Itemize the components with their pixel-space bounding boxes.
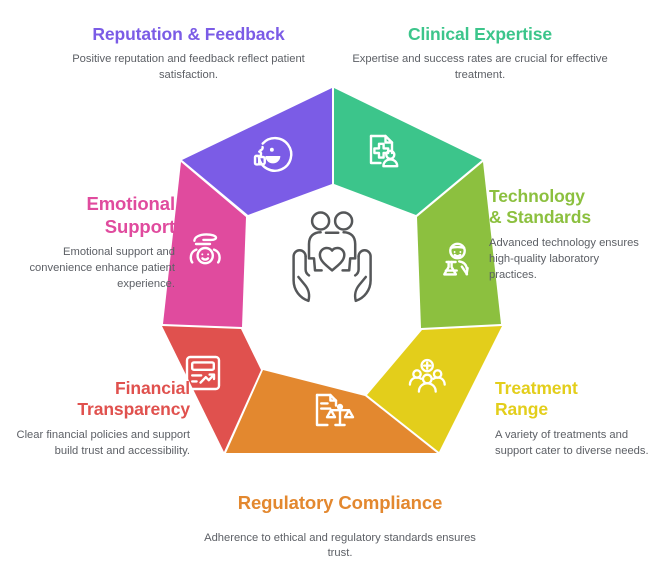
caption-financial-title: Financial Transparency — [10, 378, 190, 421]
caption-technology-title-line2: & Standards — [489, 207, 591, 227]
caption-technology-title-line1: Technology — [489, 186, 585, 206]
caption-regulatory-description: Adherence to ethical and regulatory stan… — [204, 531, 476, 563]
caption-treatment-title-line1: Treatment — [495, 378, 578, 398]
caption-treatment-title: Treatment Range — [495, 378, 655, 421]
caption-regulatory: Regulatory Compliance Adherence to ethic… — [204, 492, 476, 562]
caption-treatment-title-line2: Range — [495, 399, 548, 419]
caption-emotional-title-line1: Emotional — [86, 193, 175, 214]
caption-emotional-description: Emotional support and convenience enhanc… — [10, 245, 175, 293]
caption-clinical: Clinical Expertise Expertise and success… — [340, 24, 620, 84]
caption-treatment: Treatment Range A variety of treatments … — [495, 378, 655, 460]
caption-reputation-description: Positive reputation and feedback reflect… — [46, 52, 331, 84]
caption-financial: Financial Transparency Clear financial p… — [10, 378, 190, 460]
caption-technology: Technology & Standards Advanced technolo… — [489, 186, 649, 283]
caption-clinical-description: Expertise and success rates are crucial … — [340, 52, 620, 84]
caption-financial-title-line2: Transparency — [77, 399, 190, 419]
caption-emotional-title-line2: Support — [105, 216, 175, 237]
hands-holding-family-heart-icon — [294, 213, 371, 301]
caption-technology-description: Advanced technology ensures high-quality… — [489, 236, 649, 284]
infographic-canvas: Reputation & Feedback Positive reputatio… — [0, 0, 661, 588]
caption-reputation: Reputation & Feedback Positive reputatio… — [46, 24, 331, 84]
heptagon-ring-diagram — [160, 84, 504, 456]
caption-emotional-title: Emotional Support — [10, 193, 175, 238]
caption-regulatory-title: Regulatory Compliance — [204, 492, 476, 515]
caption-treatment-description: A variety of treatments and support cate… — [495, 428, 655, 460]
caption-emotional: Emotional Support Emotional support and … — [10, 193, 175, 293]
caption-technology-title: Technology & Standards — [489, 186, 649, 229]
caption-financial-description: Clear financial policies and support bui… — [10, 428, 190, 460]
caption-financial-title-line1: Financial — [115, 378, 190, 398]
caption-reputation-title: Reputation & Feedback — [46, 24, 331, 45]
caption-clinical-title: Clinical Expertise — [340, 24, 620, 45]
